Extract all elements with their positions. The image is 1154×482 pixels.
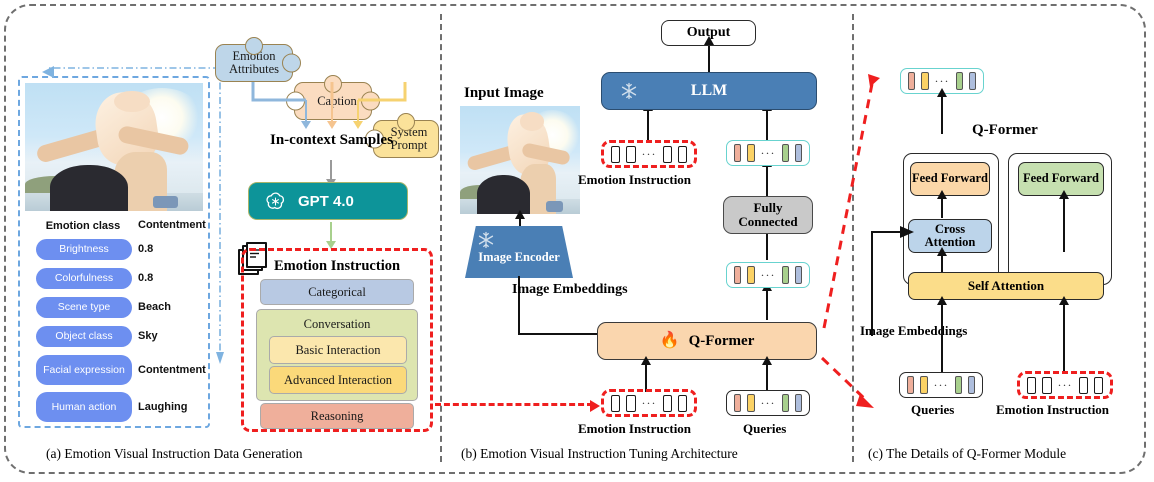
query-token bbox=[907, 376, 914, 394]
arrow-instruction-to-qformer bbox=[645, 364, 647, 392]
queries-label-c: Queries bbox=[911, 402, 954, 418]
attribute-pill-human-action: Human action bbox=[36, 392, 132, 422]
qformer-output-tokens: ··· bbox=[726, 262, 810, 288]
arrow-instruction-to-sa bbox=[1063, 304, 1065, 374]
flame-trainable-icon: 🔥 bbox=[660, 333, 680, 349]
cross-attention-box: Cross Attention bbox=[908, 219, 992, 253]
instruction-token bbox=[611, 395, 620, 412]
link-instruction-a-to-b bbox=[435, 403, 593, 406]
token-ellipsis: ··· bbox=[761, 401, 776, 406]
output-token bbox=[795, 266, 802, 284]
emotion-instruction-label-bottom: Emotion Instruction bbox=[578, 421, 691, 437]
arrow-ca-to-ff-left bbox=[941, 198, 943, 218]
instruction-token bbox=[611, 146, 620, 163]
output-token bbox=[782, 266, 789, 284]
gpt-model-box[interactable]: GPT 4.0 bbox=[248, 182, 408, 220]
arrow-samples-to-gpt bbox=[330, 160, 332, 180]
instruction-token bbox=[1079, 377, 1088, 394]
instruction-item-basic-interaction: Basic Interaction bbox=[269, 336, 407, 364]
instruction-item-advanced-interaction: Advanced Interaction bbox=[269, 366, 407, 394]
gpt-model-label: GPT 4.0 bbox=[298, 193, 354, 210]
instruction-token bbox=[663, 146, 672, 163]
caption-panel-a: (a) Emotion Visual Instruction Data Gene… bbox=[46, 446, 303, 462]
query-token bbox=[920, 376, 927, 394]
zoom-link-b-to-c-lower bbox=[818, 348, 898, 428]
output-token bbox=[734, 266, 741, 284]
visual-token bbox=[782, 144, 789, 162]
attribute-value-human-action: Laughing bbox=[138, 401, 188, 413]
image-encoder-box: Image Encoder bbox=[465, 226, 573, 278]
output-token bbox=[921, 72, 928, 90]
arrow-instruction-to-llm bbox=[647, 110, 649, 140]
puzzle-emotion-attributes: Emotion Attributes bbox=[215, 44, 293, 82]
arrow-fc-to-llm bbox=[766, 166, 768, 196]
arrow-caption-to-samples bbox=[331, 100, 333, 122]
token-ellipsis: ··· bbox=[642, 401, 657, 406]
queries-label-b: Queries bbox=[743, 421, 786, 437]
emotion-instruction-title: Emotion Instruction bbox=[244, 257, 430, 275]
emotion-instruction-tokens-llm: ··· bbox=[601, 140, 697, 168]
emotion-instruction-tokens-c: ··· bbox=[1017, 371, 1113, 399]
emotion-instruction-label-c: Emotion Instruction bbox=[996, 402, 1109, 418]
snowflake-frozen-icon bbox=[477, 231, 495, 249]
input-image-label: Input Image bbox=[464, 85, 544, 102]
query-token bbox=[734, 394, 741, 412]
arrow-qformer-to-tokens bbox=[766, 290, 768, 320]
snowflake-frozen-icon bbox=[620, 82, 638, 100]
query-token bbox=[955, 376, 962, 394]
instruction-item-reasoning: Reasoning bbox=[260, 403, 414, 429]
output-token bbox=[969, 72, 976, 90]
instruction-token bbox=[626, 146, 635, 163]
instruction-item-categorical: Categorical bbox=[260, 279, 414, 305]
query-token bbox=[795, 394, 802, 412]
in-context-samples-label: In-context Samples bbox=[270, 132, 393, 149]
arrow-attrs-to-samples bbox=[305, 100, 307, 122]
token-ellipsis: ··· bbox=[935, 79, 950, 84]
output-box: Output bbox=[661, 20, 756, 46]
qformer-title-c: Q-Former bbox=[972, 122, 1038, 139]
output-token bbox=[747, 266, 754, 284]
feed-forward-left: Feed Forward bbox=[910, 162, 990, 196]
visual-token bbox=[747, 144, 754, 162]
instruction-token bbox=[626, 395, 635, 412]
caption-panel-b: (b) Emotion Visual Instruction Tuning Ar… bbox=[461, 446, 738, 462]
token-ellipsis: ··· bbox=[642, 152, 657, 157]
llm-label: LLM bbox=[691, 82, 727, 100]
image-encoder-label: Image Encoder bbox=[478, 251, 560, 265]
arrow-gpt-to-instruction bbox=[330, 222, 332, 242]
token-ellipsis: ··· bbox=[761, 151, 776, 156]
output-token bbox=[956, 72, 963, 90]
emotion-instruction-label-llm: Emotion Instruction bbox=[578, 172, 691, 188]
arrow-queries-to-sa bbox=[941, 304, 943, 374]
qformer-label-b: Q-Former bbox=[689, 333, 755, 350]
caption-panel-c: (c) The Details of Q-Former Module bbox=[868, 446, 1066, 462]
token-ellipsis: ··· bbox=[1058, 383, 1073, 388]
instruction-token bbox=[1027, 377, 1036, 394]
feedback-route bbox=[14, 26, 224, 386]
token-ellipsis: ··· bbox=[934, 383, 949, 388]
image-embeddings-label-b: Image Embeddings bbox=[512, 282, 628, 298]
instruction-group-conversation: Conversation Basic Interaction Advanced … bbox=[256, 309, 418, 401]
arrow-ff-to-output-c bbox=[941, 96, 943, 134]
emotion-instruction-panel: Emotion Instruction Categorical Conversa… bbox=[241, 248, 433, 432]
llm-visual-tokens: ··· bbox=[726, 140, 810, 166]
visual-token bbox=[795, 144, 802, 162]
arrow-llm-to-output bbox=[708, 44, 710, 72]
instruction-token bbox=[663, 395, 672, 412]
figure-root: Emotion class Contentment Brightness 0.8… bbox=[0, 0, 1154, 482]
query-token bbox=[782, 394, 789, 412]
token-ellipsis: ··· bbox=[761, 273, 776, 278]
image-embeddings-label-c: Image Embeddings bbox=[860, 324, 967, 339]
arrow-prompt-to-samples bbox=[357, 100, 359, 122]
arrow-sa-to-ff-right bbox=[1063, 198, 1065, 252]
qformer-box-b[interactable]: 🔥 Q-Former bbox=[597, 322, 817, 360]
queries-tokens-c: ··· bbox=[899, 372, 983, 398]
output-token bbox=[908, 72, 915, 90]
arrow-queries-to-qformer bbox=[766, 364, 768, 392]
openai-logo-icon bbox=[265, 191, 286, 212]
fully-connected-box: Fully Connected bbox=[723, 196, 813, 234]
arrow-tokens-to-fc bbox=[766, 230, 768, 260]
queries-tokens-b: ··· bbox=[726, 390, 810, 416]
query-token bbox=[747, 394, 754, 412]
query-token bbox=[968, 376, 975, 394]
instruction-token bbox=[1094, 377, 1103, 394]
instruction-item-conversation: Conversation bbox=[257, 313, 417, 335]
emotion-instruction-tokens-bottom: ··· bbox=[601, 389, 697, 417]
instruction-token bbox=[1042, 377, 1051, 394]
arrow-sa-to-ca bbox=[941, 255, 943, 273]
arrow-visual-tokens-to-llm bbox=[766, 110, 768, 140]
visual-token bbox=[734, 144, 741, 162]
input-image bbox=[460, 106, 580, 214]
instruction-token bbox=[678, 395, 687, 412]
llm-box[interactable]: LLM bbox=[601, 72, 817, 110]
instruction-token bbox=[678, 146, 687, 163]
